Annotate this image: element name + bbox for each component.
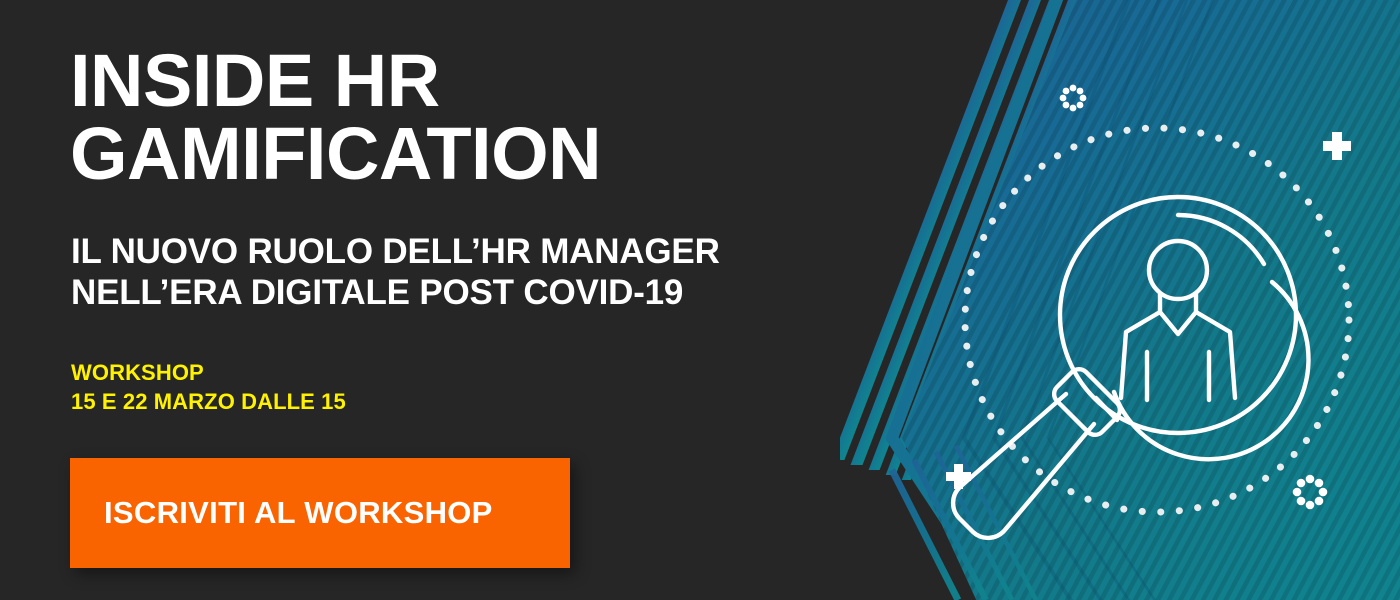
register-workshop-button[interactable]: ISCRIVITI AL WORKSHOP bbox=[70, 458, 570, 568]
decorative-graphic-panel bbox=[840, 0, 1400, 600]
page-title: INSIDE HR GAMIFICATION bbox=[70, 45, 601, 190]
workshop-date-info: WORKSHOP 15 E 22 MARZO DALLE 15 bbox=[71, 358, 346, 416]
promo-banner: INSIDE HR GAMIFICATION IL NUOVO RUOLO DE… bbox=[0, 0, 1400, 600]
copy-block: INSIDE HR GAMIFICATION IL NUOVO RUOLO DE… bbox=[70, 0, 890, 600]
subtitle: IL NUOVO RUOLO DELL’HR MANAGER NELL’ERA … bbox=[71, 232, 720, 313]
